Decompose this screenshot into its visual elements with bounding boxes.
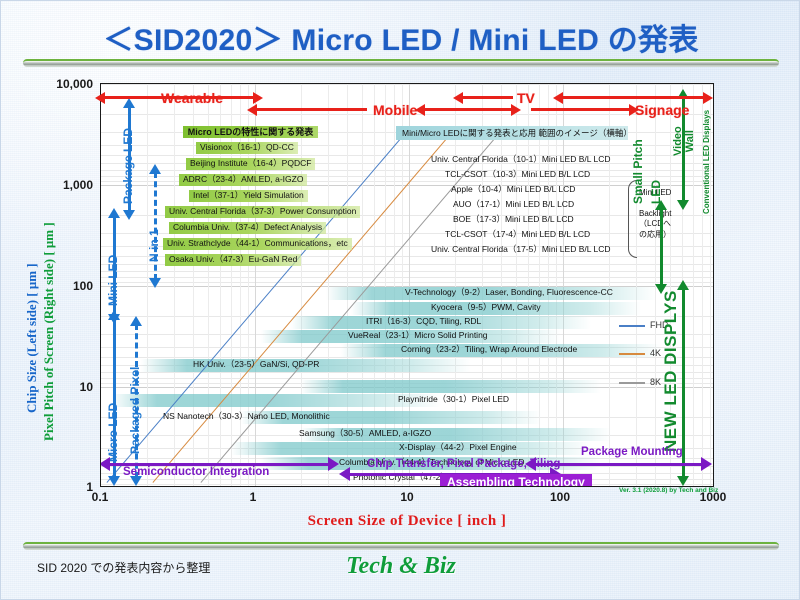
teal-item: Univ. Central Florida（17-5）Mini LED B/L … — [431, 244, 611, 254]
y-tick-1000: 1,000 — [31, 178, 93, 192]
mobile-arrow-line-right — [425, 108, 511, 111]
wearable-arrow-head-left — [95, 92, 105, 104]
package-led-label: Package LED — [121, 128, 135, 204]
tv-arrow-head-right — [703, 92, 713, 104]
scatter-item: NS Nanotech（30-3）Nano LED, Monolithic — [163, 411, 330, 421]
small-pitch-label: Small Pitch — [631, 139, 645, 204]
green-item: Beijing Institute（16-4）PQDCF — [186, 158, 315, 170]
x-tick-100: 100 — [530, 490, 590, 504]
y-tick-100: 100 — [31, 279, 93, 293]
teal-item: Apple（10-4）Mini LED B/L LCD — [451, 184, 575, 194]
green-group-header: Micro LEDの特性に関する発表 — [183, 126, 318, 138]
x-tick-0.1: 0.1 — [70, 490, 130, 504]
scatter-item: VueReal（23-1）Micro Solid Printing — [348, 330, 488, 340]
signage-arrow-line — [531, 108, 629, 111]
y-tick-10: 10 — [31, 380, 93, 394]
footer-divider — [23, 542, 779, 550]
mobile-arrow-head-left — [247, 104, 257, 116]
package-mounting-label: Package Mounting — [581, 446, 683, 458]
mobile-arrow-head-left2 — [415, 104, 425, 116]
n-in-1-arrow-head-down — [149, 278, 161, 288]
green-item: Osaka Univ.（47-3）Eu-GaN Red — [165, 254, 301, 266]
teal-item: AUO（17-1）Mini LED B/L LCD — [453, 199, 574, 209]
green-item: Univ. Central Florida（37-3）Power Consump… — [165, 206, 360, 218]
green-item: Univ. Strathclyde（44-1）Communications，et… — [163, 238, 352, 250]
chip-transfer-arrow-head-left — [339, 467, 350, 481]
micro-led-label: Micro LED — [106, 403, 120, 462]
n-in-1-label: N in 1 — [147, 229, 161, 262]
package-mounting-arrow-head-right — [701, 457, 712, 471]
chart-gridlines — [101, 84, 713, 486]
wearable-arrow-head-right — [253, 92, 263, 104]
highlight-band — [301, 380, 601, 393]
green-item: Intel（37-1）Yield Simulation — [189, 190, 308, 202]
legend-swatch-fhd — [619, 325, 645, 327]
slide-canvas: ＜SID2020＞ Micro LED / Mini LED の発表 Chip … — [0, 0, 800, 600]
small-pitch-arrow-line — [660, 208, 663, 286]
page-title: ＜SID2020＞ Micro LED / Mini LED の発表 — [1, 15, 800, 59]
green-item: Visionox（16-1）QD-CC — [196, 142, 298, 154]
version-note: Ver. 3.1 (2020.8) by Tech and Biz — [619, 487, 718, 494]
segment-label-signage: Signage — [635, 102, 689, 118]
scatter-item: Samsung（30-5）AMLED, a-IGZO — [299, 428, 431, 438]
tv-arrow-head-left2 — [553, 92, 563, 104]
scatter-item: ITRI（16-3）CQD, Tiling, RDL — [366, 316, 481, 326]
package-mounting-arrow-head-left — [525, 457, 536, 471]
legend-label-4k: 4K — [650, 348, 661, 358]
tv-arrow-head-left — [453, 92, 463, 104]
scatter-item: V-Technology（9-2）Laser, Bonding, Fluores… — [405, 287, 613, 297]
x-tick-1: 1 — [223, 490, 283, 504]
package-mounting-arrow-line — [536, 463, 708, 466]
semiconductor-integration-label: Semiconductor Integration — [123, 466, 269, 478]
x-axis-title: Screen Size of Device [ inch ] — [100, 513, 714, 530]
assembling-technology-label: Assembling Technology — [440, 474, 592, 487]
teal-item: TCL-CSOT（17-4）Mini LED B/L LCD — [445, 229, 590, 239]
teal-item: BOE（17-3）Mini LED B/L LCD — [453, 214, 574, 224]
scatter-item: Corning（23-2）Tiling, Wrap Around Electro… — [401, 344, 577, 354]
segment-label-mobile: Mobile — [373, 102, 417, 118]
green-item: ADRC（23-4）AMLED, a-IGZO — [179, 174, 307, 186]
legend-label-8k: 8K — [650, 377, 661, 387]
tv-arrow-line-right — [563, 96, 703, 99]
teal-item: TCL-CSOT（10-3）Mini LED B/L LCD — [445, 169, 590, 179]
micro-led-arrow-head-down — [108, 476, 120, 486]
wearable-arrow-line — [105, 96, 253, 99]
package-led-arrow-head-down — [123, 210, 135, 220]
x-tick-10: 10 — [377, 490, 437, 504]
tv-arrow-line-left — [463, 96, 513, 99]
legend-swatch-8k — [619, 382, 645, 384]
semiconductor-integration-arrow-head-right — [328, 457, 339, 471]
mobile-arrow-head-right — [511, 104, 521, 116]
new-led-displays-label: NEW LED DISPLYS — [661, 290, 681, 452]
video-wall-arrow-head-down — [677, 200, 689, 210]
green-item: Columbia Univ.（37-4）Defect Analysis — [169, 222, 326, 234]
packaged-pixel-label: Packaged Pixel — [128, 367, 142, 454]
conventional-led-displays-label: Conventional LED Displays — [702, 110, 711, 214]
small-pitch-led-label: LED — [649, 180, 663, 204]
scatter-item: Playnitride（30-1）Pixel LED — [398, 394, 509, 404]
y-axis-title-pixel-pitch: Pixel Pitch of Screen (Right side) [ μm … — [41, 222, 57, 441]
semiconductor-integration-arrow-head-left — [100, 457, 110, 471]
new-led-displays-arrow-head-down — [677, 476, 689, 486]
teal-item: Univ. Central Florida（10-1）Mini LED B/L … — [431, 154, 611, 164]
scatter-item: Kyocera（9-5）PWM, Cavity — [431, 302, 541, 312]
scatter-item: HK Univ.（23-5）GaN/Si, QD-PR — [193, 359, 319, 369]
mobile-arrow-line-left — [257, 108, 367, 111]
header-divider — [23, 59, 779, 67]
footer-brand: Tech & Biz — [1, 553, 800, 580]
video-wall-label: Video Wall — [673, 126, 696, 156]
mini-led-label: Mini LED — [106, 255, 120, 306]
n-in-1-arrow-line — [154, 172, 157, 280]
signage-arrow-head-right — [629, 104, 639, 116]
legend-swatch-4k — [619, 353, 645, 355]
scatter-item: X-Display（44-2）Pixel Engine — [399, 442, 517, 452]
teal-group-header: Mini/Micro LEDに関する発表と応用 範囲のイメージ（横軸） — [396, 126, 628, 140]
y-tick-10000: 10,000 — [31, 77, 93, 91]
chart-plot-area: FHD 4K 8K Micro LEDの特性に関する発表 Visionox（16… — [100, 83, 714, 487]
